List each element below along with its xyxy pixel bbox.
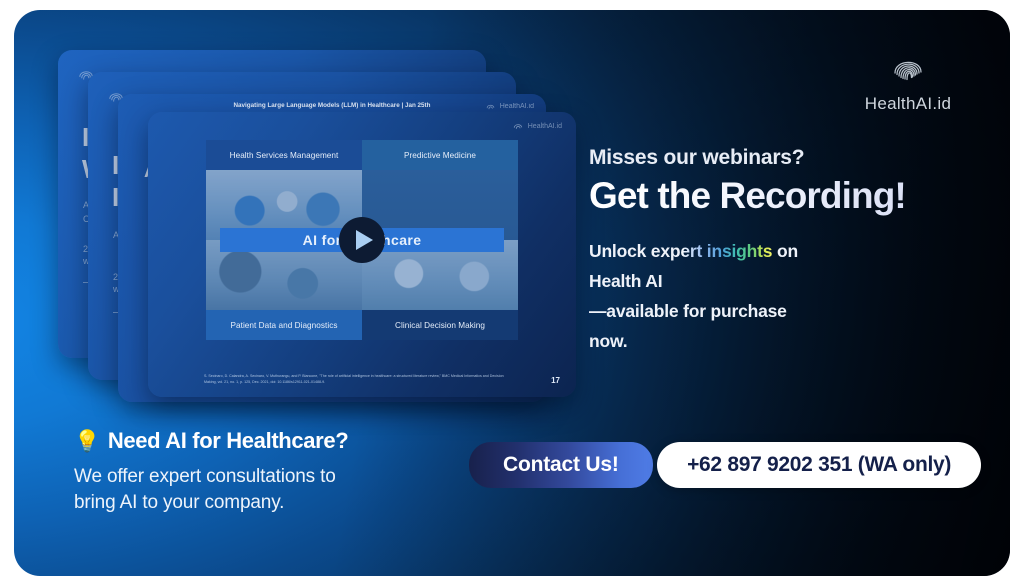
play-icon[interactable] [339, 217, 385, 263]
subtext-accent: ert insights [680, 241, 772, 261]
contact-us-button-label: Contact Us! [503, 453, 619, 477]
deck-card-3-watermark-text: HealthAI.id [500, 103, 534, 110]
consultation-block: 💡 Need AI for Healthcare? We offer exper… [74, 428, 474, 515]
subtext-part-1: Unlock exp [589, 241, 680, 261]
slide-front-card[interactable]: HealthAI.id Health Services Management P… [148, 112, 576, 397]
consultation-body: We offer expert consultations to bring A… [74, 464, 474, 515]
deck-card-3-watermark: HealthAI.id [485, 101, 534, 112]
consultation-body-line-2: bring AI to your company. [74, 492, 284, 513]
slide-watermark: HealthAI.id [512, 120, 562, 132]
quadrant-label-clinical-decision: Clinical Decision Making [362, 310, 518, 340]
brain-waves-logo-icon [887, 46, 929, 88]
quadrant-label-predictive-medicine: Predictive Medicine [362, 140, 518, 170]
slide-page-number: 17 [551, 376, 560, 385]
whatsapp-phone-button[interactable]: +62 897 9202 351 (WA only) [657, 442, 981, 488]
contact-us-button[interactable]: Contact Us! [469, 442, 653, 488]
brand-logo: HealthAI.id [848, 46, 968, 114]
cta-button-group: Contact Us! +62 897 9202 351 (WA only) [469, 442, 981, 497]
subtext-line-3: —available for purchase [589, 301, 787, 321]
deck-card-3-header-title: Navigating Large Language Models (LLM) i… [234, 102, 431, 109]
promo-card: HealthAI.id I W A C 2 w [14, 10, 1010, 576]
promo-banner-frame: HealthAI.id I W A C 2 w [0, 0, 1024, 588]
headline-column: Misses our webinars? Get the Recording! … [589, 146, 989, 356]
consultation-heading-text: Need AI for Healthcare? [108, 428, 349, 454]
subtext-line-4: now. [589, 331, 627, 351]
lightbulb-icon: 💡 [74, 431, 100, 452]
slide-deck-stack[interactable]: I W A C 2 w I I [58, 50, 578, 395]
slide-header: HealthAI.id [148, 112, 576, 138]
play-triangle-shape [356, 230, 373, 250]
slide-watermark-text: HealthAI.id [528, 123, 562, 130]
quadrant-label-patient-data: Patient Data and Diagnostics [206, 310, 362, 340]
quadrant-label-health-services: Health Services Management [206, 140, 362, 170]
subtext-part-2: on [772, 241, 798, 261]
subtext-line-2: Health AI [589, 271, 662, 291]
slide-quadrant-grid: Health Services Management Predictive Me… [206, 140, 518, 340]
watermark-brain-icon [512, 120, 524, 132]
brand-logo-text: HealthAI.id [848, 94, 968, 114]
headline-eyebrow: Misses our webinars? [589, 146, 989, 170]
slide-citation: S. Secinaro, D. Calandra, A. Secinaro, V… [204, 374, 504, 385]
headline-subtext: Unlock expert insights on Health AI —ava… [589, 236, 989, 356]
consultation-heading: 💡 Need AI for Healthcare? [74, 428, 474, 454]
consultation-body-line-1: We offer expert consultations to [74, 466, 336, 487]
whatsapp-phone-label: +62 897 9202 351 (WA only) [687, 453, 951, 477]
page-title: Get the Recording! [589, 176, 989, 216]
